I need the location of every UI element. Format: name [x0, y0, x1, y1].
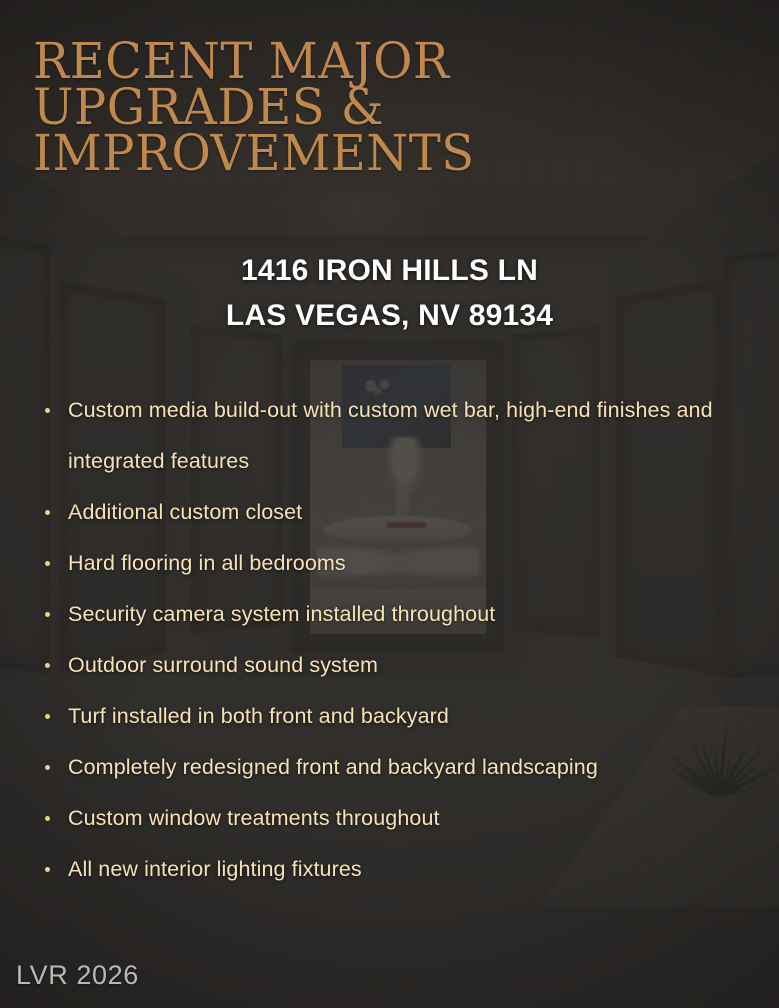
flyer-content: RECENT MAJOR UPGRADES & IMPROVEMENTS 141…	[0, 0, 779, 1008]
headline-line-3: IMPROVEMENTS	[33, 130, 705, 176]
upgrades-list: Custom media build-out with custom wet b…	[40, 385, 770, 895]
list-item: Turf installed in both front and backyar…	[40, 691, 770, 742]
list-item: Custom media build-out with custom wet b…	[40, 385, 770, 487]
list-item: Hard flooring in all bedrooms	[40, 538, 770, 589]
address-street: 1416 IRON HILLS LN	[0, 248, 779, 293]
list-item: Completely redesigned front and backyard…	[40, 742, 770, 793]
address-city-state-zip: LAS VEGAS, NV 89134	[0, 293, 779, 338]
property-address: 1416 IRON HILLS LN LAS VEGAS, NV 89134	[0, 248, 779, 338]
watermark: LVR 2026	[16, 960, 139, 991]
list-item: Custom window treatments throughout	[40, 793, 770, 844]
real-estate-flyer: RECENT MAJOR UPGRADES & IMPROVEMENTS 141…	[0, 0, 779, 1008]
list-item: Additional custom closet	[40, 487, 770, 538]
page-title: RECENT MAJOR UPGRADES & IMPROVEMENTS	[33, 38, 705, 176]
list-item: All new interior lighting fixtures	[40, 844, 770, 895]
list-item: Outdoor surround sound system	[40, 640, 770, 691]
list-item: Security camera system installed through…	[40, 589, 770, 640]
